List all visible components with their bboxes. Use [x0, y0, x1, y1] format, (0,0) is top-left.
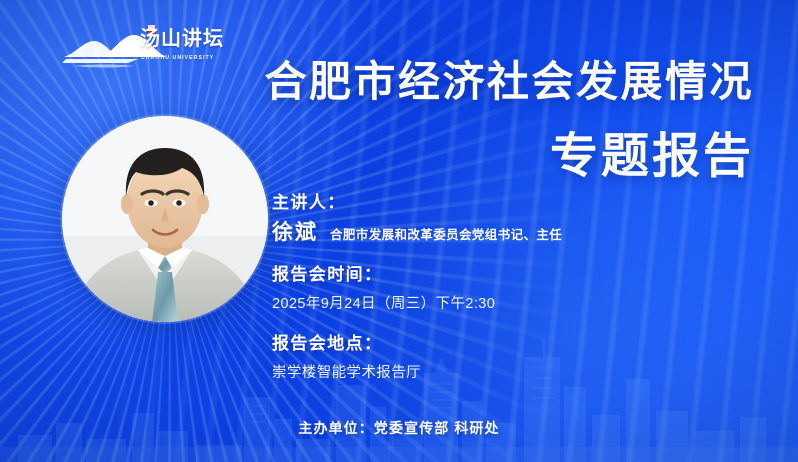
place-label: 报告会地点：	[272, 333, 742, 354]
speaker-row: 徐斌 合肥市发展和改革委员会党组书记、主任	[272, 221, 742, 244]
spacer-1	[272, 244, 742, 264]
event-poster: 汤山讲坛 CHAOHU UNIVERSITY	[0, 0, 798, 462]
time-label: 报告会时间：	[272, 264, 742, 285]
speaker-label: 主讲人：	[272, 192, 742, 213]
spacer-2	[272, 313, 742, 333]
place-value: 崇学楼智能学术报告厅	[272, 364, 742, 383]
brand-logo: 汤山讲坛 CHAOHU UNIVERSITY	[62, 23, 234, 75]
brand-name-en: CHAOHU UNIVERSITY	[141, 56, 214, 61]
event-details: 主讲人： 徐斌 合肥市发展和改革委员会党组书记、主任 报告会时间： 2025年9…	[272, 192, 742, 383]
poster-title-line-1: 合肥市经济社会发展情况	[264, 61, 754, 103]
time-value: 2025年9月24日（周三）下午2:30	[272, 295, 742, 314]
brand-name-cn: 汤山讲坛	[140, 29, 224, 49]
speaker-portrait	[62, 116, 268, 322]
organizer-footer: 主办单位：党委宣传部 科研处	[0, 418, 798, 438]
speaker-name: 徐斌	[272, 221, 318, 244]
poster-title-line-2: 专题报告	[550, 133, 754, 181]
speaker-title: 合肥市发展和改革委员会党组书记、主任	[330, 229, 562, 243]
